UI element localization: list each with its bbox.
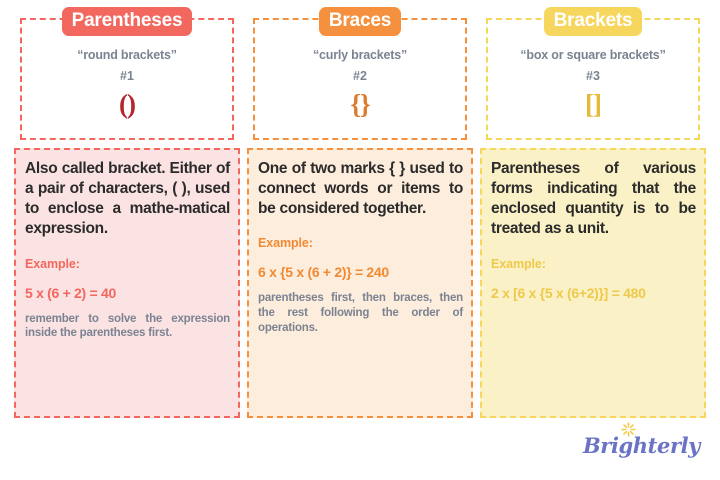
bracket-columns: Parentheses “round brackets” #1 () Also … bbox=[14, 18, 706, 418]
header-box-parentheses: Parentheses “round brackets” #1 () bbox=[20, 18, 234, 140]
sparkle-icon bbox=[621, 422, 636, 437]
column-braces: Braces “curly brackets” #2 {} One of two… bbox=[247, 18, 473, 418]
header-top-rule bbox=[486, 18, 700, 20]
definition-brackets: Parentheses of various forms indicating … bbox=[491, 159, 696, 240]
alias-brackets: “box or square brackets” bbox=[488, 48, 698, 62]
column-parentheses: Parentheses “round brackets” #1 () Also … bbox=[14, 18, 240, 418]
infographic-board: Parentheses “round brackets” #1 () Also … bbox=[0, 0, 720, 480]
card-brackets: Parentheses of various forms indicating … bbox=[480, 148, 706, 418]
rank-brackets: #3 bbox=[488, 69, 698, 83]
note-parentheses: remember to solve the expression inside … bbox=[25, 312, 230, 341]
definition-parentheses: Also called bracket. Either of a pair of… bbox=[25, 159, 230, 240]
card-parentheses: Also called bracket. Either of a pair of… bbox=[14, 148, 240, 418]
header-box-braces: Braces “curly brackets” #2 {} bbox=[253, 18, 467, 140]
rank-braces: #2 bbox=[255, 69, 465, 83]
logo-text: Brighterly bbox=[583, 435, 700, 456]
header-inner: “curly brackets” #2 {} bbox=[255, 18, 465, 118]
example-label-parentheses: Example: bbox=[25, 257, 230, 271]
equation-parentheses: 5 x (6 + 2) = 40 bbox=[25, 285, 230, 301]
header-inner: “box or square brackets” #3 [] bbox=[488, 18, 698, 118]
brighterly-logo: Brighterly bbox=[583, 435, 700, 456]
example-label-brackets: Example: bbox=[491, 257, 696, 271]
symbol-braces: {} bbox=[255, 91, 465, 118]
example-label-braces: Example: bbox=[258, 236, 463, 250]
equation-braces: 6 x {5 x (6 + 2)} = 240 bbox=[258, 264, 463, 280]
header-top-rule bbox=[20, 18, 234, 20]
symbol-brackets: [] bbox=[488, 91, 698, 118]
note-braces: parentheses first, then braces, then the… bbox=[258, 291, 463, 335]
header-inner: “round brackets” #1 () bbox=[22, 18, 232, 118]
alias-braces: “curly brackets” bbox=[255, 48, 465, 62]
header-box-brackets: Brackets “box or square brackets” #3 [] bbox=[486, 18, 700, 140]
symbol-parentheses: () bbox=[22, 91, 232, 118]
card-braces: One of two marks { } used to connect wor… bbox=[247, 148, 473, 418]
equation-brackets: 2 x [6 x {5 x (6+2)}] = 480 bbox=[491, 285, 696, 301]
definition-braces: One of two marks { } used to connect wor… bbox=[258, 159, 463, 219]
header-top-rule bbox=[253, 18, 467, 20]
rank-parentheses: #1 bbox=[22, 69, 232, 83]
alias-parentheses: “round brackets” bbox=[22, 48, 232, 62]
column-brackets: Brackets “box or square brackets” #3 [] … bbox=[480, 18, 706, 418]
